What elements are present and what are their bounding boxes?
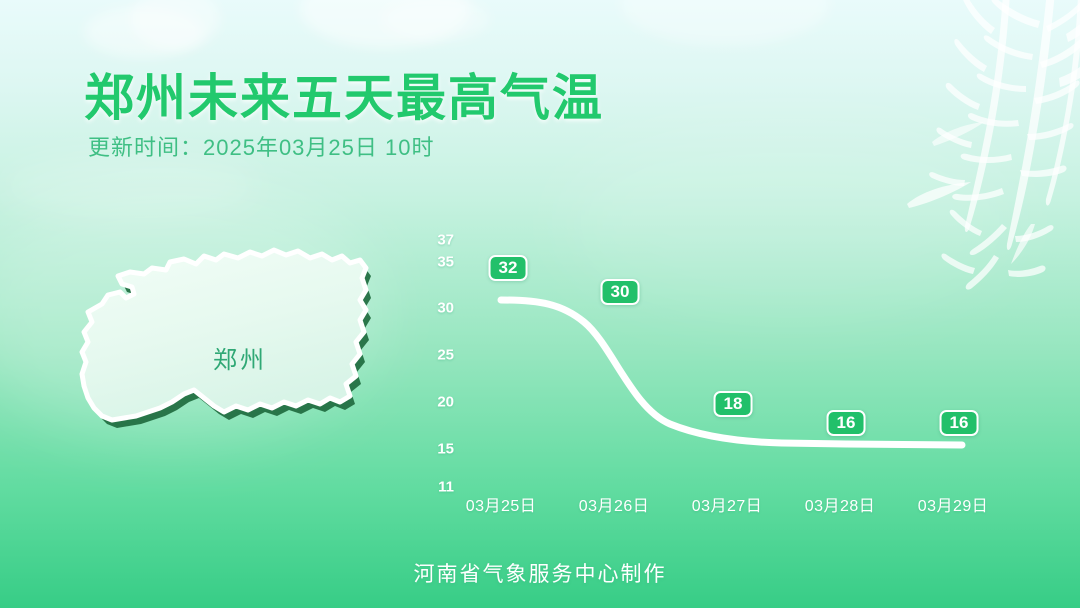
infographic-canvas: 郑州未来五天最高气温 更新时间：2025年03月25日 10时 郑州 37 35… [0, 0, 1080, 608]
y-axis-tick: 20 [437, 394, 454, 411]
henan-map: 郑州 [70, 235, 410, 485]
x-axis-label: 03月25日 [446, 492, 556, 516]
henan-province-map-icon [70, 235, 410, 485]
data-label: 32 [489, 255, 528, 281]
y-axis: 37 35 30 25 20 15 11 [420, 220, 454, 490]
x-axis-label: 03月29日 [898, 492, 1008, 516]
temperature-line [462, 228, 1022, 485]
y-axis-tick: 25 [437, 347, 454, 364]
x-axis: 03月25日 03月26日 03月27日 03月28日 03月29日 [462, 492, 1022, 518]
data-label: 16 [827, 410, 866, 436]
data-label: 18 [714, 391, 753, 417]
x-axis-label: 03月27日 [672, 492, 782, 516]
x-axis-label: 03月28日 [785, 492, 895, 516]
y-axis-tick: 37 [437, 232, 454, 249]
temperature-chart: 37 35 30 25 20 15 11 32 30 18 16 16 03月2… [420, 220, 1040, 520]
data-label: 30 [601, 279, 640, 305]
footer-credit: 河南省气象服务中心制作 [0, 558, 1080, 588]
x-axis-label: 03月26日 [559, 492, 669, 516]
cloud-decoration [380, 0, 490, 42]
data-label: 16 [940, 410, 979, 436]
y-axis-tick: 30 [437, 300, 454, 317]
page-title: 郑州未来五天最高气温 [84, 58, 604, 130]
y-axis-tick: 35 [437, 254, 454, 271]
cloud-decoration [620, 0, 830, 46]
y-axis-tick: 15 [437, 441, 454, 458]
update-time-text: 更新时间：2025年03月25日 10时 [88, 130, 434, 162]
